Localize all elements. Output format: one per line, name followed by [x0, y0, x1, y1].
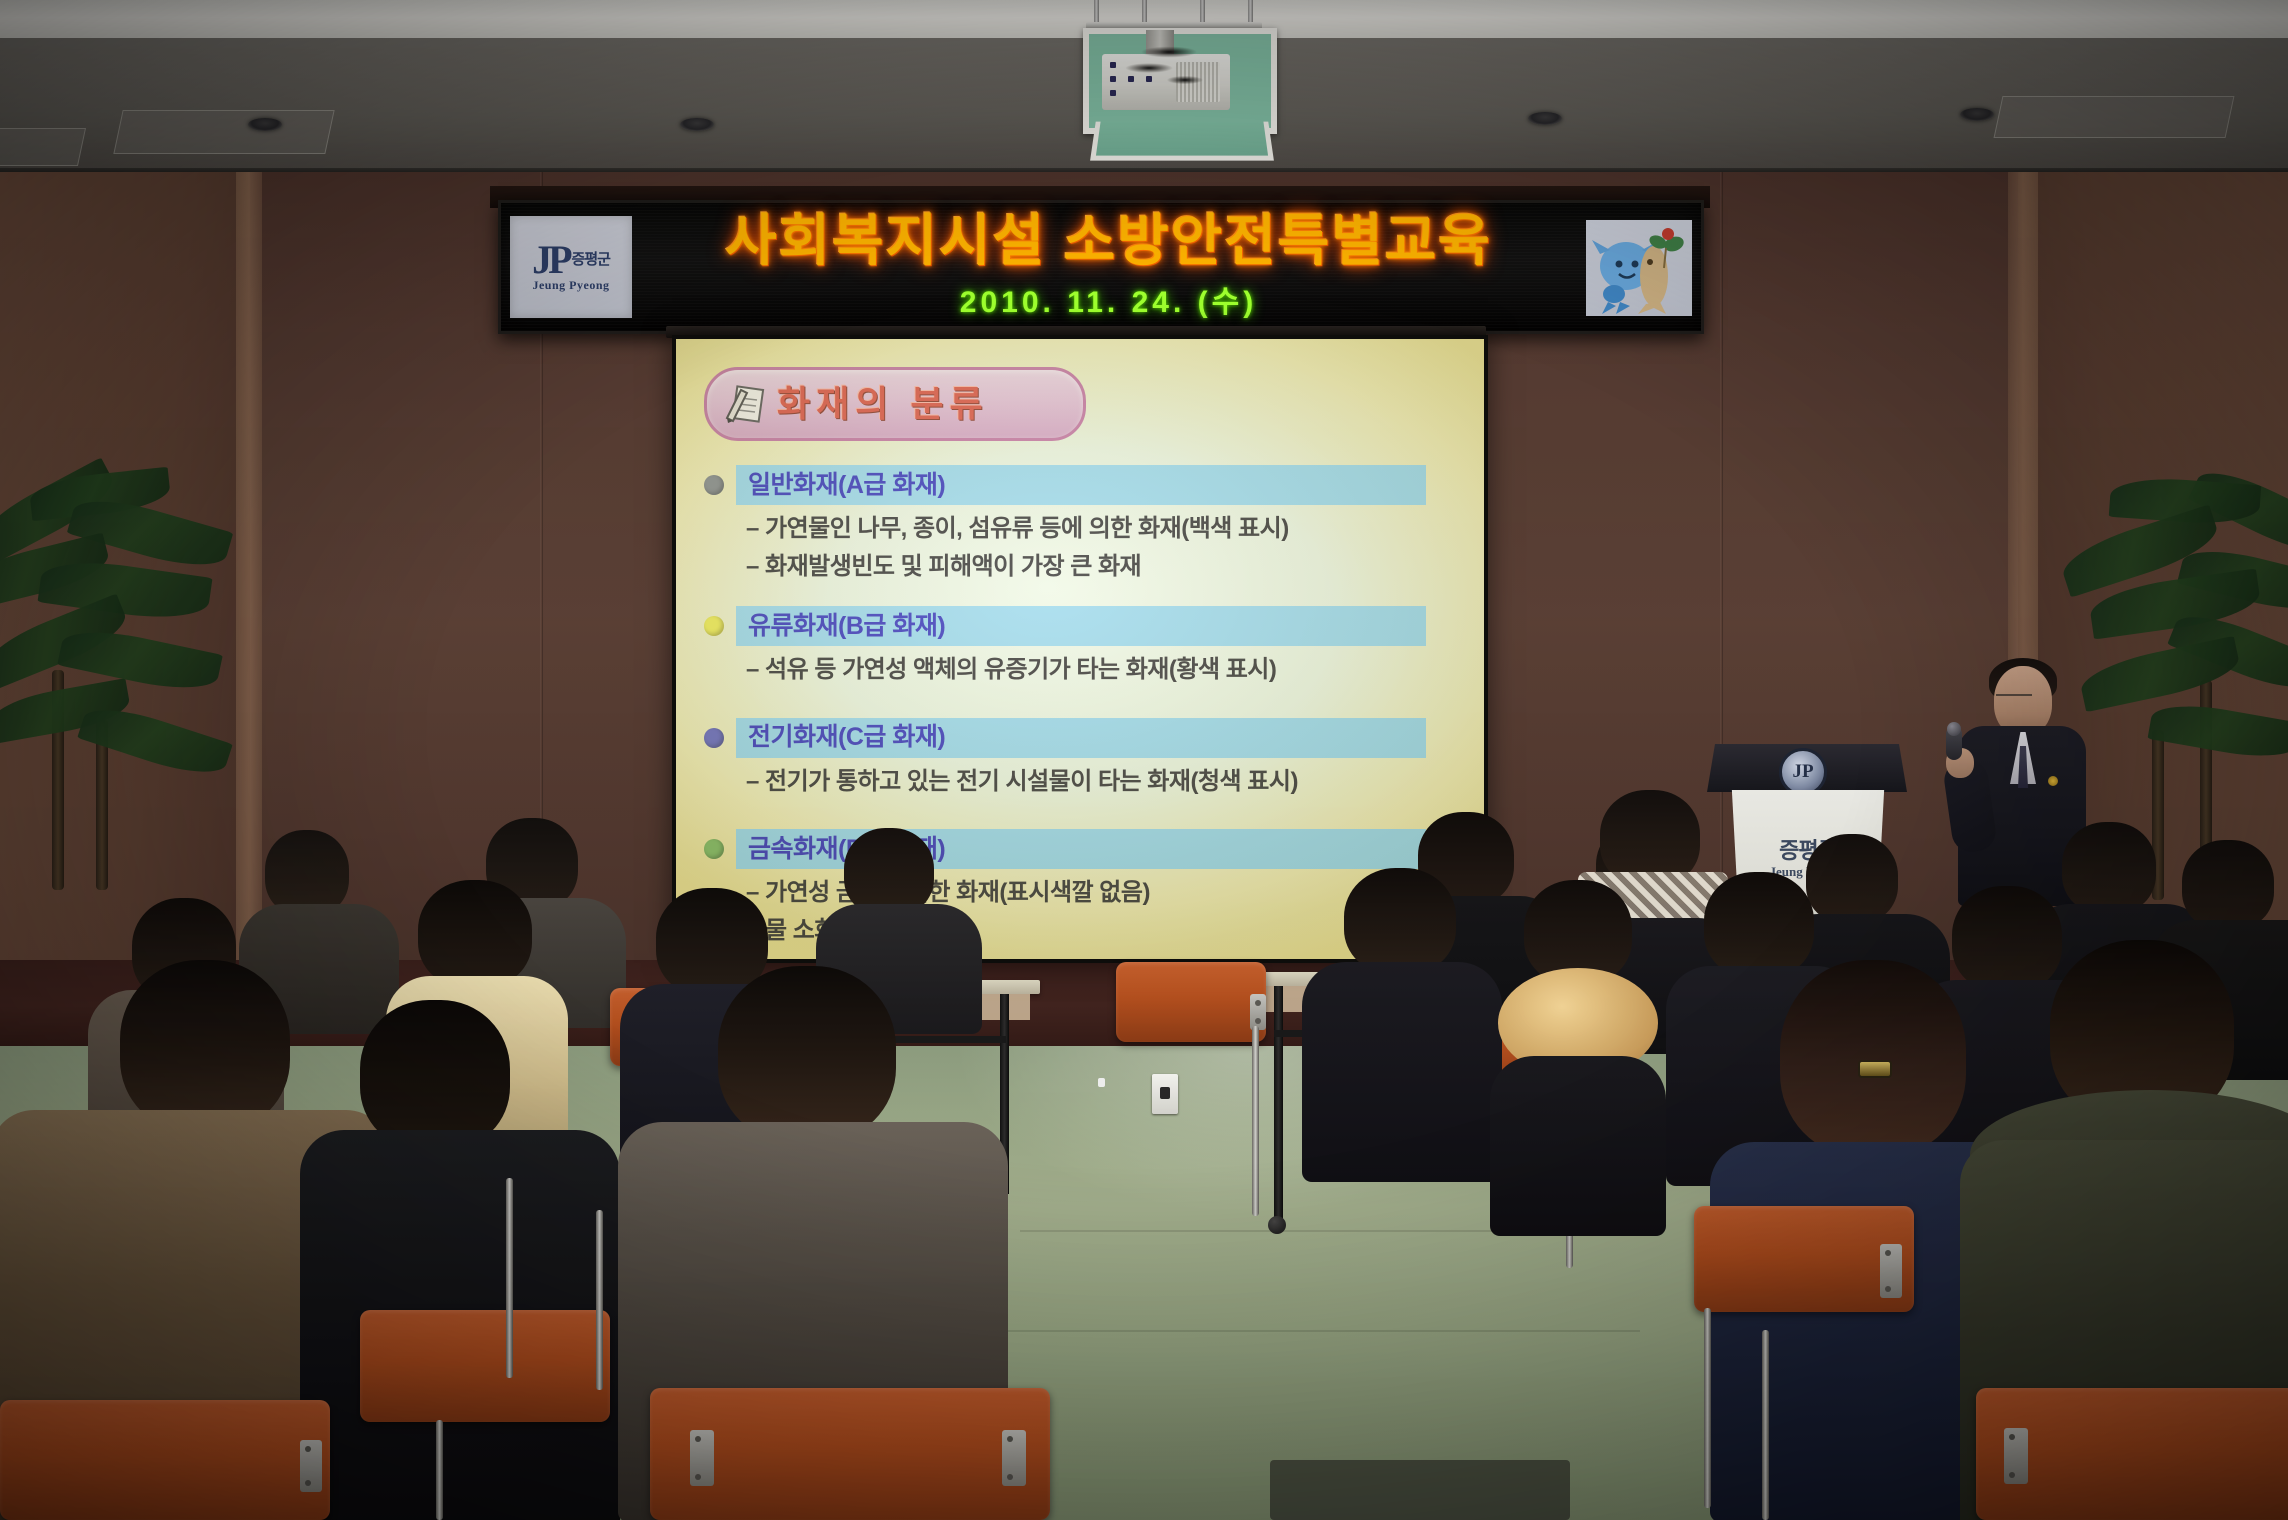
slide-section: 유류화재(B급 화재) – 석유 등 가연성 액체의 유증기가 타는 화재(황색… — [736, 606, 1426, 684]
projection-screen: 화재의 분류 일반화재(A급 화재) – 가연물인 나무, 종이, 섬유류 등에… — [672, 335, 1488, 963]
slide-section: 전기화재(C급 화재) – 전기가 통하고 있는 전기 시설물이 타는 화재(청… — [736, 718, 1426, 796]
slide-surface: 화재의 분류 일반화재(A급 화재) – 가연물인 나무, 종이, 섬유류 등에… — [676, 339, 1484, 959]
slide-title-pill: 화재의 분류 — [704, 367, 1086, 441]
slide-section-head: 전기화재(C급 화재) — [736, 718, 1426, 758]
ceiling-air-vent — [1994, 96, 2235, 138]
slide-section: 일반화재(A급 화재) – 가연물인 나무, 종이, 섬유류 등에 의한 화재(… — [736, 465, 1426, 580]
podium-emblem-icon: JP — [1779, 748, 1827, 796]
chair-leg — [596, 1210, 603, 1390]
section-bullet-line: – 가연물인 나무, 종이, 섬유류 등에 의한 화재(백색 표시) — [746, 515, 1426, 543]
floor-mat — [1270, 1460, 1570, 1520]
slide-title: 화재의 분류 — [777, 386, 989, 422]
banner-left-logo: JP 증평군 Jeung Pyeong — [510, 216, 632, 318]
section-bullet-icon — [704, 475, 724, 495]
hair-clip — [1858, 1060, 1892, 1078]
slide-section-head: 일반화재(A급 화재) — [736, 465, 1426, 505]
section-heading: 유류화재(B급 화재) — [748, 614, 945, 639]
slide-section-head: 유류화재(B급 화재) — [736, 606, 1426, 646]
ceiling-downlight — [680, 118, 714, 131]
led-banner: JP 증평군 Jeung Pyeong 사회복지시설 소방안전특별교육 2010… — [498, 200, 1704, 334]
banner-headline: 사회복지시설 소방안전특별교육 — [725, 213, 1492, 269]
slide-section-head: 금속화재(D급 화재) — [736, 829, 1426, 869]
potted-palm-left — [0, 470, 250, 890]
speaker-glasses-icon — [1996, 694, 2032, 706]
chair-leg — [1704, 1308, 1711, 1508]
memo-pencil-icon — [723, 382, 767, 426]
speaker-lapel-badge — [2048, 776, 2058, 786]
section-band: 금속화재(D급 화재) — [736, 829, 1426, 869]
banner-mascot-icon — [1586, 220, 1692, 316]
section-heading: 전기화재(C급 화재) — [748, 725, 945, 750]
section-heading: 일반화재(A급 화재) — [748, 473, 945, 498]
wall-power-outlet — [1152, 1074, 1178, 1114]
ceiling-air-vent — [113, 110, 334, 154]
floor-seam — [960, 1330, 1640, 1332]
lecture-hall-photo: JP 증평군 Jeung Pyeong 사회복지시설 소방안전특별교육 2010… — [0, 0, 2288, 1520]
banner-left-logo-en: Jeung Pyeong — [532, 278, 609, 293]
section-bullet-line: – 석유 등 가연성 액체의 유증기가 타는 화재(황색 표시) — [746, 656, 1426, 684]
section-bullet-icon — [704, 839, 724, 859]
jp-monogram-icon: JP — [532, 242, 568, 278]
ceiling-downlight — [248, 118, 282, 131]
banner-text-block: 사회복지시설 소방안전특별교육 2010. 11. 24. (수) — [641, 203, 1576, 331]
section-band: 전기화재(C급 화재) — [736, 718, 1426, 758]
wall-seam — [1720, 172, 1723, 992]
chair-leg — [506, 1178, 513, 1378]
section-bullet-icon — [704, 728, 724, 748]
microphone-icon — [1946, 726, 1962, 760]
section-band: 일반화재(A급 화재) — [736, 465, 1426, 505]
ceiling-downlight — [1960, 108, 1994, 121]
section-band: 유류화재(B급 화재) — [736, 606, 1426, 646]
section-bullet-line: – 전기가 통하고 있는 전기 시설물이 타는 화재(청색 표시) — [746, 768, 1426, 796]
wall-marker — [1098, 1078, 1105, 1087]
projector-cage — [1083, 28, 1277, 134]
chair-leg — [1762, 1330, 1769, 1520]
projector-housing-skirt — [1090, 122, 1274, 161]
slide-body: 일반화재(A급 화재) – 가연물인 나무, 종이, 섬유류 등에 의한 화재(… — [736, 465, 1426, 955]
section-bullet-line: – 화재발생빈도 및 피해액이 가장 큰 화재 — [746, 553, 1426, 581]
banner-date: 2010. 11. 24. (수) — [960, 277, 1257, 321]
ceiling-downlight — [1528, 112, 1562, 125]
section-bullet-icon — [704, 616, 724, 636]
banner-left-logo-kr: 증평군 — [572, 252, 610, 268]
ceiling-air-vent — [0, 128, 86, 166]
